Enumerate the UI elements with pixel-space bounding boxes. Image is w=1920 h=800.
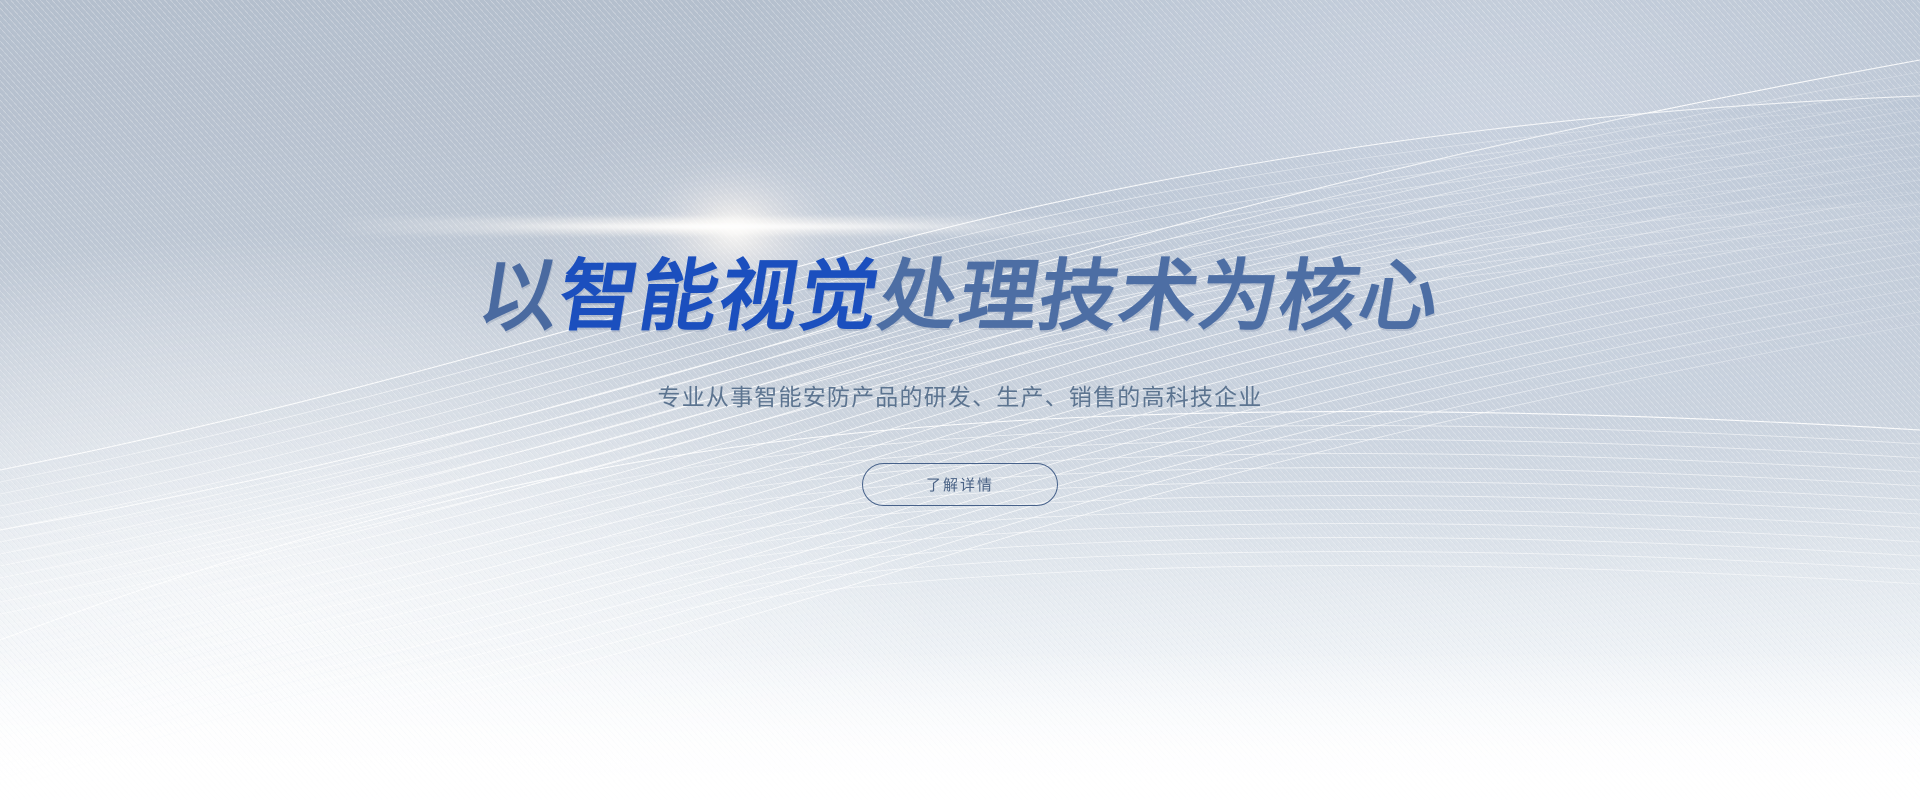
headline-segment-muted: 处理技术为核心: [873, 252, 1447, 342]
hero-banner: 以智能视觉处理技术为核心 专业从事智能安防产品的研发、生产、销售的高科技企业 了…: [0, 0, 1920, 800]
hero-cta-wrapper: 了解详情: [862, 463, 1058, 506]
hero-content: 以智能视觉处理技术为核心 专业从事智能安防产品的研发、生产、销售的高科技企业 了…: [0, 0, 1920, 800]
hero-subtitle: 专业从事智能安防产品的研发、生产、销售的高科技企业: [658, 378, 1263, 412]
hero-headline: 以智能视觉处理技术为核心: [474, 258, 1446, 336]
headline-segment-accent: 智能视觉: [553, 252, 887, 342]
learn-more-button[interactable]: 了解详情: [862, 463, 1058, 506]
headline-segment-lead: 以: [473, 252, 567, 342]
